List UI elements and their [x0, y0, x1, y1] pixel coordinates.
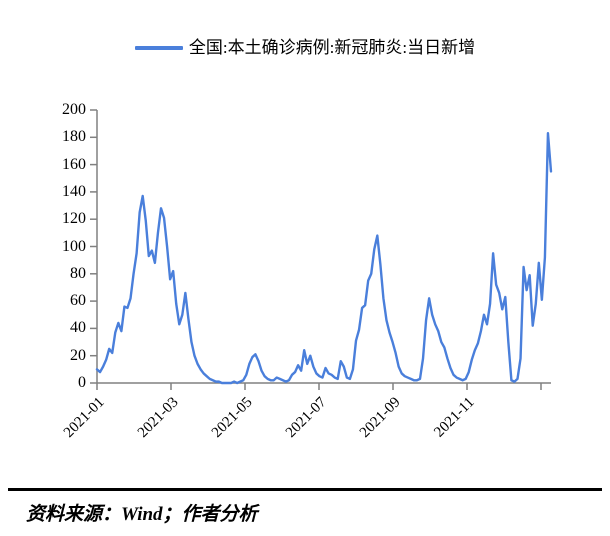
y-axis-ticks — [90, 110, 97, 383]
footer-source-note: 资料来源：Wind；作者分析 — [26, 503, 258, 527]
y-axis-tick-label: 60 — [38, 293, 86, 309]
y-axis-tick-label: 20 — [38, 348, 86, 364]
y-axis-tick-label: 200 — [38, 102, 86, 118]
x-axis-ticks — [97, 383, 541, 390]
footer-divider — [8, 488, 602, 491]
series-line-path — [97, 133, 551, 383]
chart-series-group — [97, 133, 551, 383]
chart-figure: 全国:本土确诊病例:新冠肺炎:当日新增 02040608010012014016… — [0, 0, 610, 480]
y-axis-tick-label: 80 — [38, 266, 86, 282]
y-axis-tick-label: 180 — [38, 129, 86, 145]
y-axis-tick-label: 160 — [38, 157, 86, 173]
y-axis-tick-label: 40 — [38, 320, 86, 336]
chart-plot-area: 020406080100120140160180200 2021-012021-… — [0, 0, 610, 480]
y-axis-tick-label: 0 — [38, 375, 86, 391]
y-axis-tick-label: 100 — [38, 239, 86, 255]
chart-axes — [90, 110, 551, 390]
y-axis-tick-label: 120 — [38, 211, 86, 227]
y-axis-tick-label: 140 — [38, 184, 86, 200]
